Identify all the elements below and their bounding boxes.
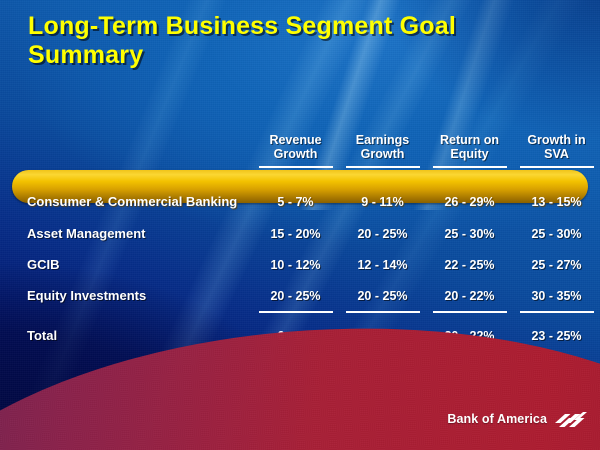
cell-value: 25 - 30% bbox=[513, 218, 600, 249]
cell-value: 10 - 12% bbox=[252, 249, 339, 280]
page-title: Long-Term Business Segment Goal Summary bbox=[28, 12, 548, 70]
column-header-underline bbox=[259, 166, 333, 168]
cell-value: 13 - 15% bbox=[513, 185, 600, 218]
column-header-label: Revenue Growth bbox=[269, 133, 321, 162]
cell-value: 5 - 7% bbox=[252, 185, 339, 218]
separator-rule bbox=[346, 311, 420, 313]
cell-value: 25 - 30% bbox=[426, 218, 513, 249]
cell-value: 22 - 25% bbox=[426, 249, 513, 280]
separator-spacer bbox=[0, 311, 252, 320]
separator-cell bbox=[339, 311, 426, 320]
table-body: Consumer & Commercial Banking 5 - 7% 9 -… bbox=[0, 185, 600, 351]
separator-cell bbox=[513, 311, 600, 320]
table-row: Asset Management 15 - 20% 20 - 25% 25 - … bbox=[0, 218, 600, 249]
cell-value: 20 - 25% bbox=[339, 218, 426, 249]
separator-rule bbox=[520, 311, 594, 313]
table-row: GCIB 10 - 12% 12 - 14% 22 - 25% 25 - 27% bbox=[0, 249, 600, 280]
cell-value: 12 - 14% bbox=[339, 249, 426, 280]
cell-value: 25 - 27% bbox=[513, 249, 600, 280]
column-header-label: Earnings Growth bbox=[356, 133, 410, 162]
separator-cell bbox=[426, 311, 513, 320]
row-label: Asset Management bbox=[0, 218, 252, 249]
cell-value: 15 - 20% bbox=[252, 218, 339, 249]
cell-value: 30 - 35% bbox=[513, 280, 600, 311]
cell-value: 20 - 25% bbox=[339, 280, 426, 311]
brand-name: Bank of America bbox=[447, 412, 547, 426]
table-row: Consumer & Commercial Banking 5 - 7% 9 -… bbox=[0, 185, 600, 218]
brand-lockup: Bank of America bbox=[447, 408, 588, 430]
slide: Long-Term Business Segment Goal Summary … bbox=[0, 0, 600, 450]
table-row: Equity Investments 20 - 25% 20 - 25% 20 … bbox=[0, 280, 600, 311]
row-label: Equity Investments bbox=[0, 280, 252, 311]
cell-value: 20 - 25% bbox=[252, 280, 339, 311]
row-label: Consumer & Commercial Banking bbox=[0, 185, 252, 218]
goal-summary-table: Revenue Growth Earnings Growth Return on… bbox=[0, 118, 600, 351]
separator-rule bbox=[433, 311, 507, 313]
column-header-underline bbox=[433, 166, 507, 168]
separator-rule bbox=[259, 311, 333, 313]
table-total-separator bbox=[0, 311, 600, 320]
column-header-underline bbox=[520, 166, 594, 168]
column-header-underline bbox=[346, 166, 420, 168]
cell-value: 20 - 22% bbox=[426, 280, 513, 311]
column-header-label: Return on Equity bbox=[440, 133, 499, 162]
column-header-label: Growth in SVA bbox=[527, 133, 585, 162]
cell-value: 26 - 29% bbox=[426, 185, 513, 218]
cell-value: 9 - 11% bbox=[339, 185, 426, 218]
separator-cell bbox=[252, 311, 339, 320]
flagscape-logo-icon bbox=[554, 408, 588, 430]
row-label: GCIB bbox=[0, 249, 252, 280]
